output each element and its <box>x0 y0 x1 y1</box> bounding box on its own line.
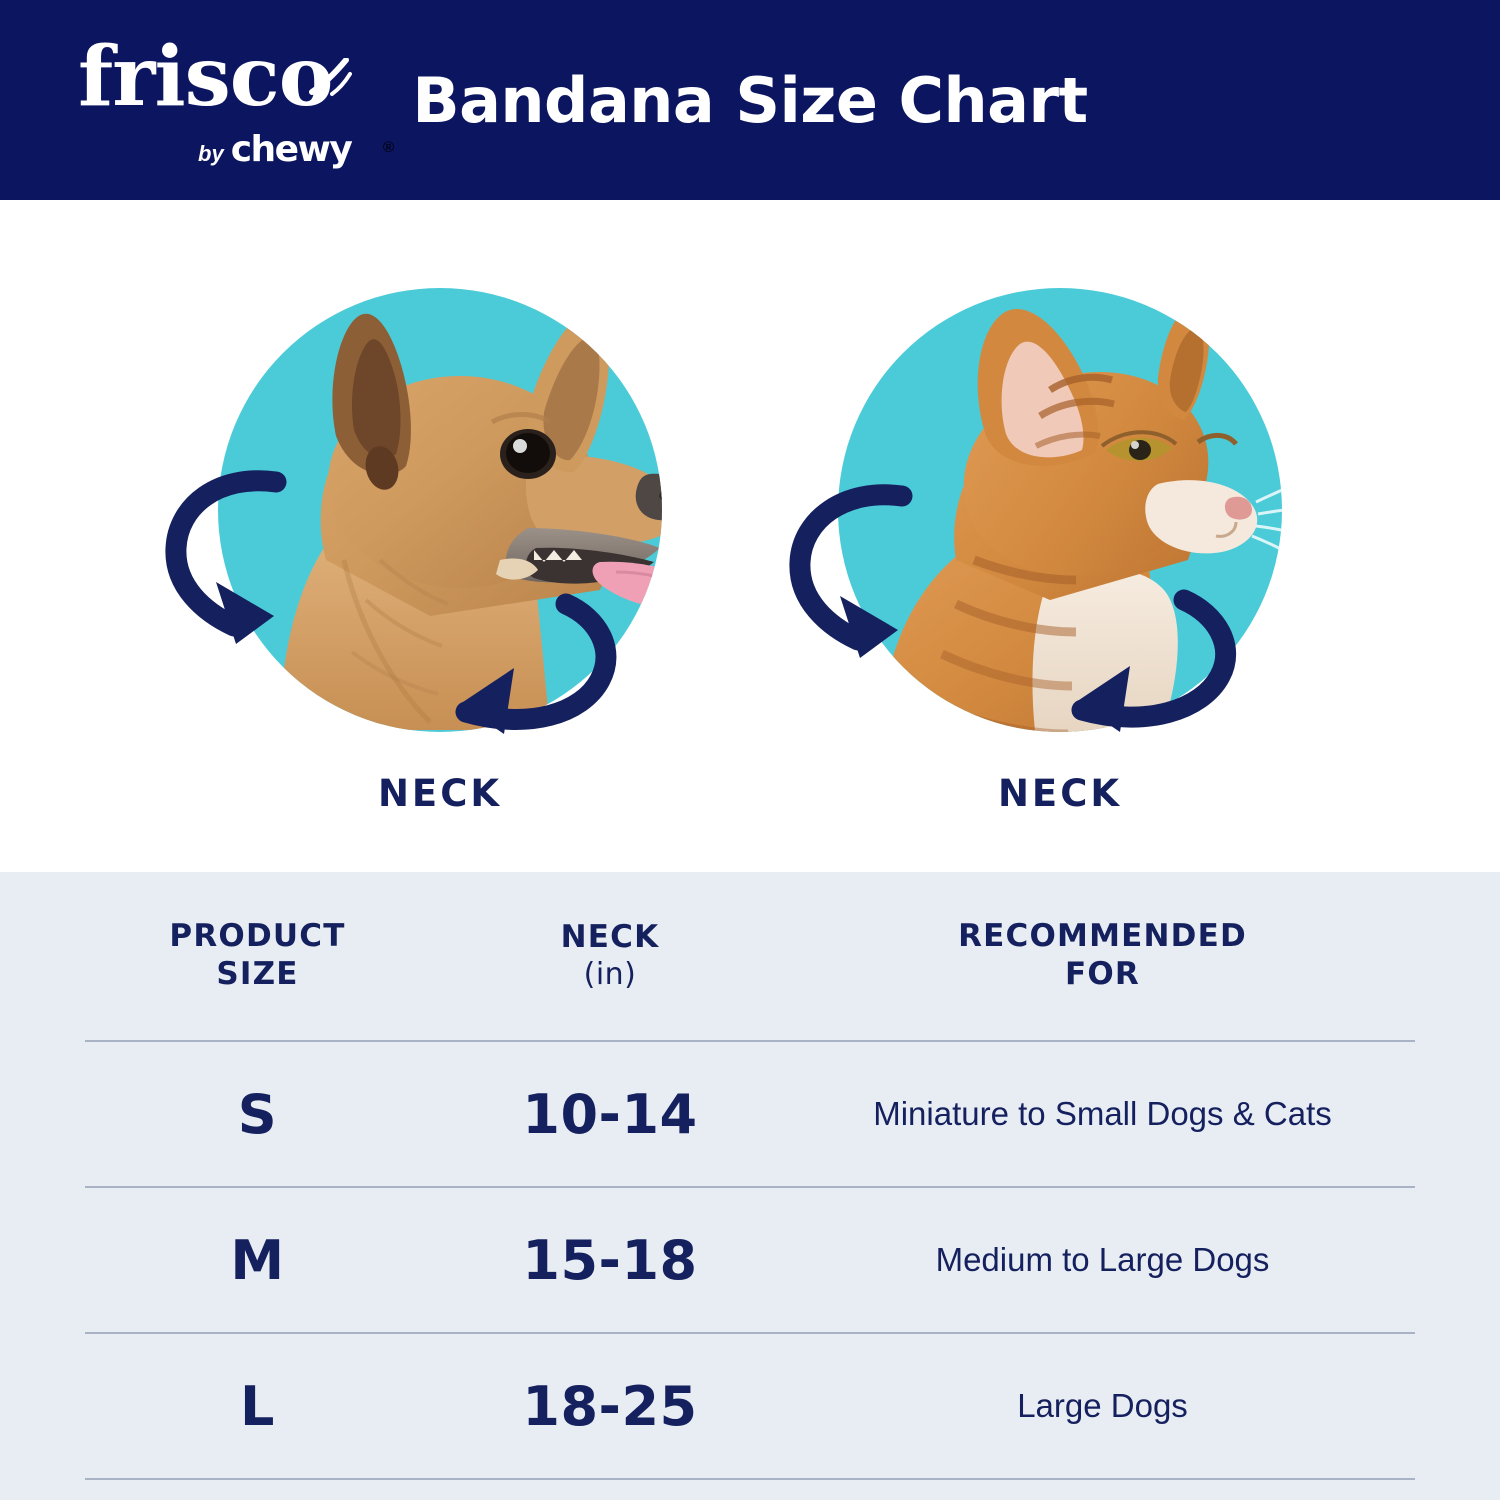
table-divider <box>85 1478 1415 1480</box>
column-header-recommended-line1: RECOMMENDED <box>958 918 1247 954</box>
brand-logo: frisco ® by chewy <box>78 36 378 166</box>
dog-illustration-panel: NECK <box>130 260 750 860</box>
brand-logo-subline: by chewy <box>198 132 351 168</box>
table-header-row: PRODUCT SIZE NECK (in) RECOMMENDED FOR <box>85 872 1415 1040</box>
cell-size: M <box>85 1229 430 1292</box>
cell-size: L <box>85 1375 430 1438</box>
column-header-neck: NECK (in) <box>430 919 790 993</box>
cell-neck: 10-14 <box>430 1083 790 1146</box>
cat-illustration-panel: NECK <box>750 260 1370 860</box>
cell-recommended: Miniature to Small Dogs & Cats <box>790 1092 1415 1136</box>
cat-neck-label: NECK <box>750 772 1370 815</box>
cell-neck: 15-18 <box>430 1229 790 1292</box>
column-header-neck-line1: NECK <box>561 919 660 955</box>
table-row: M 15-18 Medium to Large Dogs <box>85 1188 1415 1332</box>
column-header-recommended-for: RECOMMENDED FOR <box>790 918 1415 994</box>
cat-neck-diagram-icon <box>750 260 1370 780</box>
cell-recommended: Large Dogs <box>790 1384 1415 1428</box>
column-header-recommended-line2: FOR <box>1065 956 1140 992</box>
column-header-product-size-line2: SIZE <box>216 956 298 992</box>
logo-chewy-text: chewy <box>231 132 352 168</box>
dog-neck-label: NECK <box>130 772 750 815</box>
page-header: frisco ® by chewy Bandana Size Chart <box>0 0 1500 200</box>
registered-trademark-icon: ® <box>383 139 394 156</box>
table-row: S 10-14 Miniature to Small Dogs & Cats <box>85 1042 1415 1186</box>
column-header-product-size: PRODUCT SIZE <box>85 918 430 994</box>
dog-neck-diagram-icon <box>130 260 750 780</box>
column-header-neck-unit: (in) <box>430 957 790 994</box>
size-chart-table: PRODUCT SIZE NECK (in) RECOMMENDED FOR S… <box>0 872 1500 1500</box>
cell-neck: 18-25 <box>430 1375 790 1438</box>
illustration-band: NECK <box>0 200 1500 872</box>
table-row: L 18-25 Large Dogs <box>85 1334 1415 1478</box>
column-header-product-size-line1: PRODUCT <box>169 918 345 954</box>
cell-recommended: Medium to Large Dogs <box>790 1238 1415 1282</box>
brand-logo-wordmark: frisco <box>78 36 332 118</box>
cell-size: S <box>85 1083 430 1146</box>
logo-by-text: by <box>198 141 224 167</box>
